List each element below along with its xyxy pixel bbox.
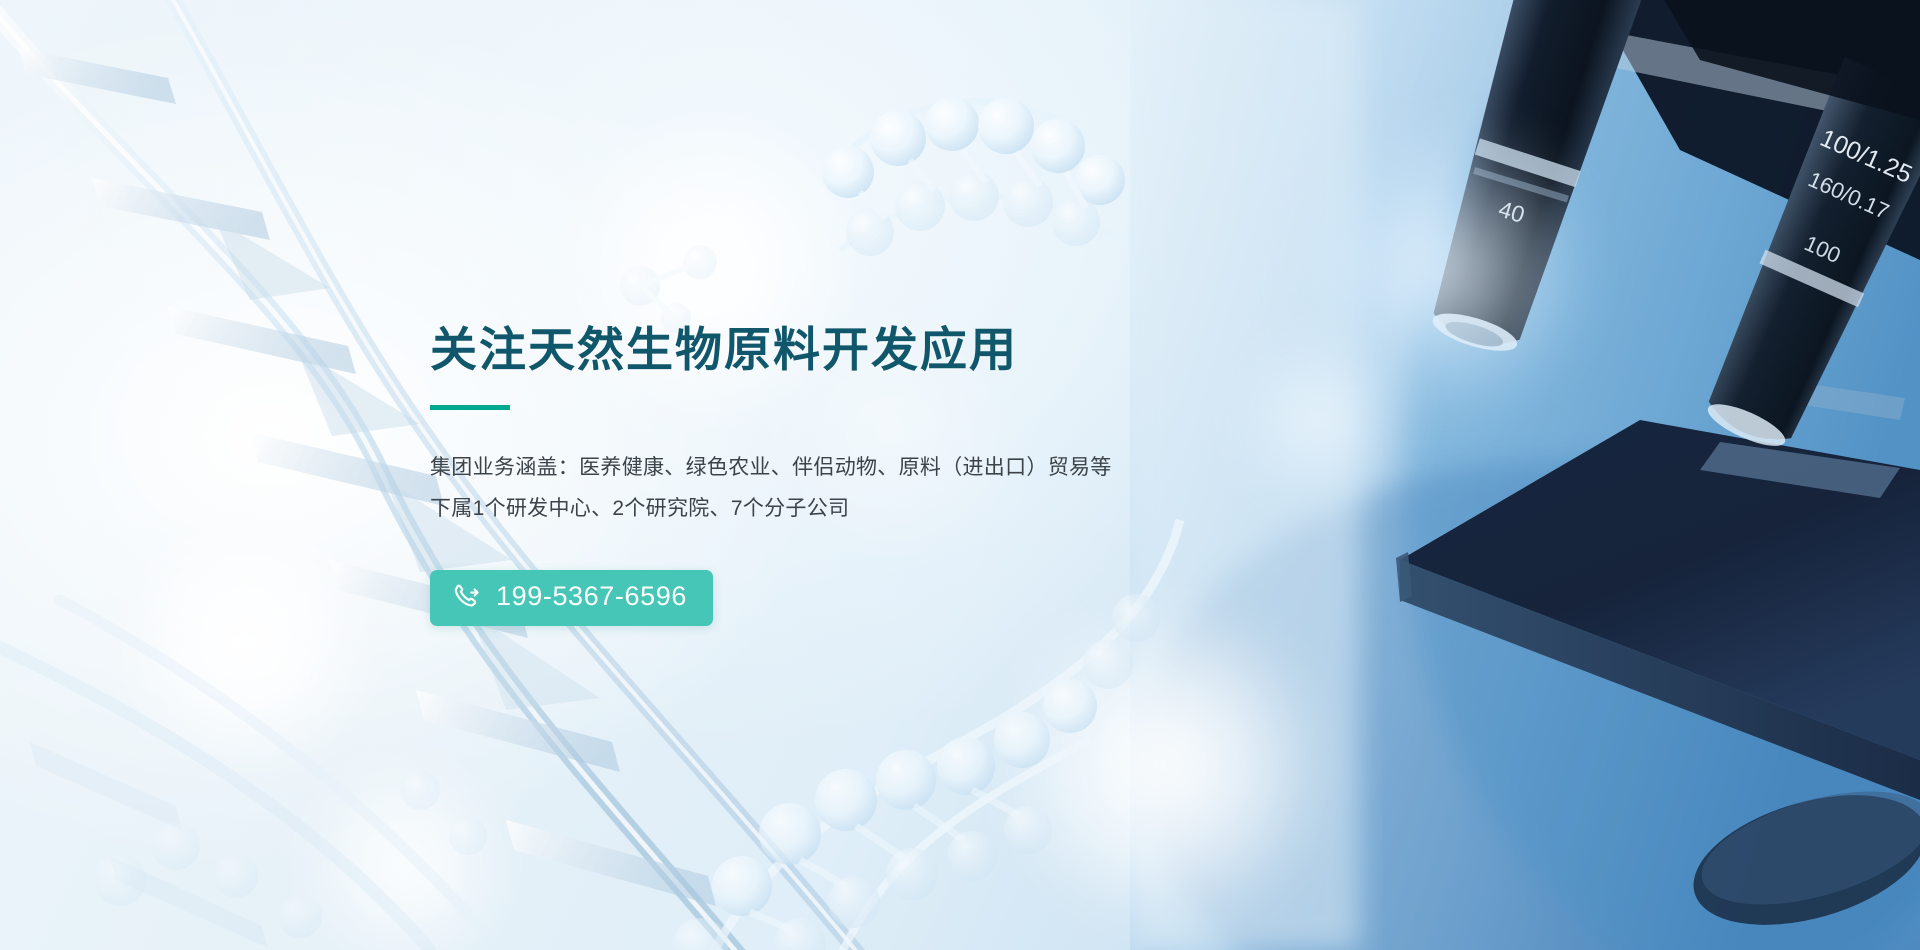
page-title: 关注天然生物原料开发应用 [430,324,1250,377]
hero-content: 关注天然生物原料开发应用 集团业务涵盖：医养健康、绿色农业、伴侣动物、原料（进出… [430,0,1250,950]
phone-number-label: 199-5367-6596 [496,583,687,612]
hero-subtitle: 集团业务涵盖：医养健康、绿色农业、伴侣动物、原料（进出口）贸易等 下属1个研发中… [430,448,1250,530]
hero-banner: 40 100/1.25 160/0.17 100 [0,0,1920,950]
phone-outgoing-icon [452,583,482,613]
phone-cta-button[interactable]: 199-5367-6596 [430,570,713,626]
accent-divider [430,405,510,410]
